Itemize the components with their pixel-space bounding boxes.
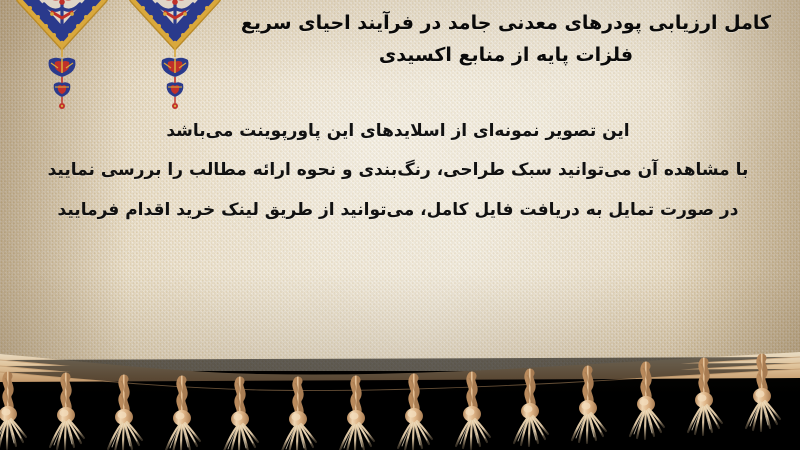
slide-canvas: کامل ارزیابی پودرهای معدنی جامد در فرآین… [0, 0, 800, 450]
slide-title-line-2: فلزات پایه از منابع اکسیدی [226, 40, 786, 71]
slide-body: این تصویر نمونه‌ای از اسلایدهای این پاور… [10, 112, 786, 230]
slide-body-line-2: با مشاهده آن می‌توانید سبک طراحی، رنگ‌بن… [10, 151, 786, 190]
slide-text-layer: کامل ارزیابی پودرهای معدنی جامد در فرآین… [0, 0, 800, 378]
slide-body-line-3: در صورت تمایل به دریافت فایل کامل، می‌تو… [10, 191, 786, 230]
slide-title-line-1: کامل ارزیابی پودرهای معدنی جامد در فرآین… [226, 8, 786, 39]
slide-body-line-1: این تصویر نمونه‌ای از اسلایدهای این پاور… [10, 112, 786, 151]
slide-title: کامل ارزیابی پودرهای معدنی جامد در فرآین… [226, 8, 786, 71]
black-background-band [0, 371, 800, 450]
